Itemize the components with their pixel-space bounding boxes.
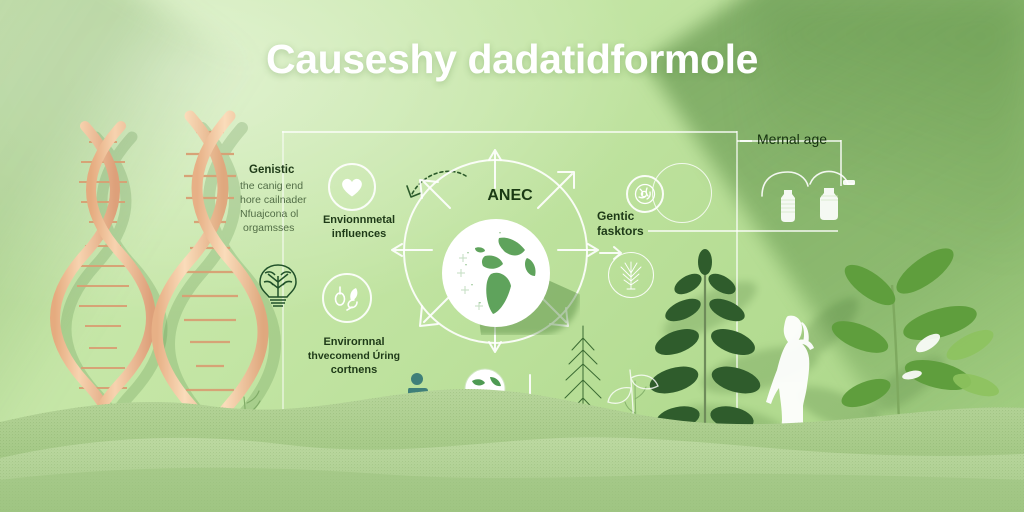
globe-center-icon xyxy=(441,218,551,328)
heart-icon xyxy=(340,176,364,198)
genetic-line-4: orgamsses xyxy=(243,222,294,235)
seed-leaf-icon xyxy=(332,283,362,313)
page-title: Causeshy dadatidformole xyxy=(0,36,1024,83)
genetic-heading: Genistic xyxy=(249,163,294,177)
genetic-line-3: Nfuajcona ol xyxy=(240,208,298,221)
maternal-age-label: Mernal age xyxy=(757,131,827,148)
coral-icon xyxy=(615,259,647,291)
lightbulb-tree-icon xyxy=(256,262,300,310)
infographic-canvas: Causeshy dadatidformole xyxy=(0,0,1024,512)
connector-line-top xyxy=(282,131,737,133)
center-node-label: ANEC xyxy=(455,186,565,206)
terrain xyxy=(0,362,1024,512)
genetic-line-1: the canig end xyxy=(240,180,303,193)
maternal-age-dash xyxy=(740,140,752,142)
genetic-line-2: hore cailnader xyxy=(240,194,307,207)
outline-circle-decor xyxy=(652,163,712,223)
genetic-factors-line-1: Gentic xyxy=(597,209,634,224)
genetic-factors-line-2: fasktors xyxy=(597,224,644,239)
